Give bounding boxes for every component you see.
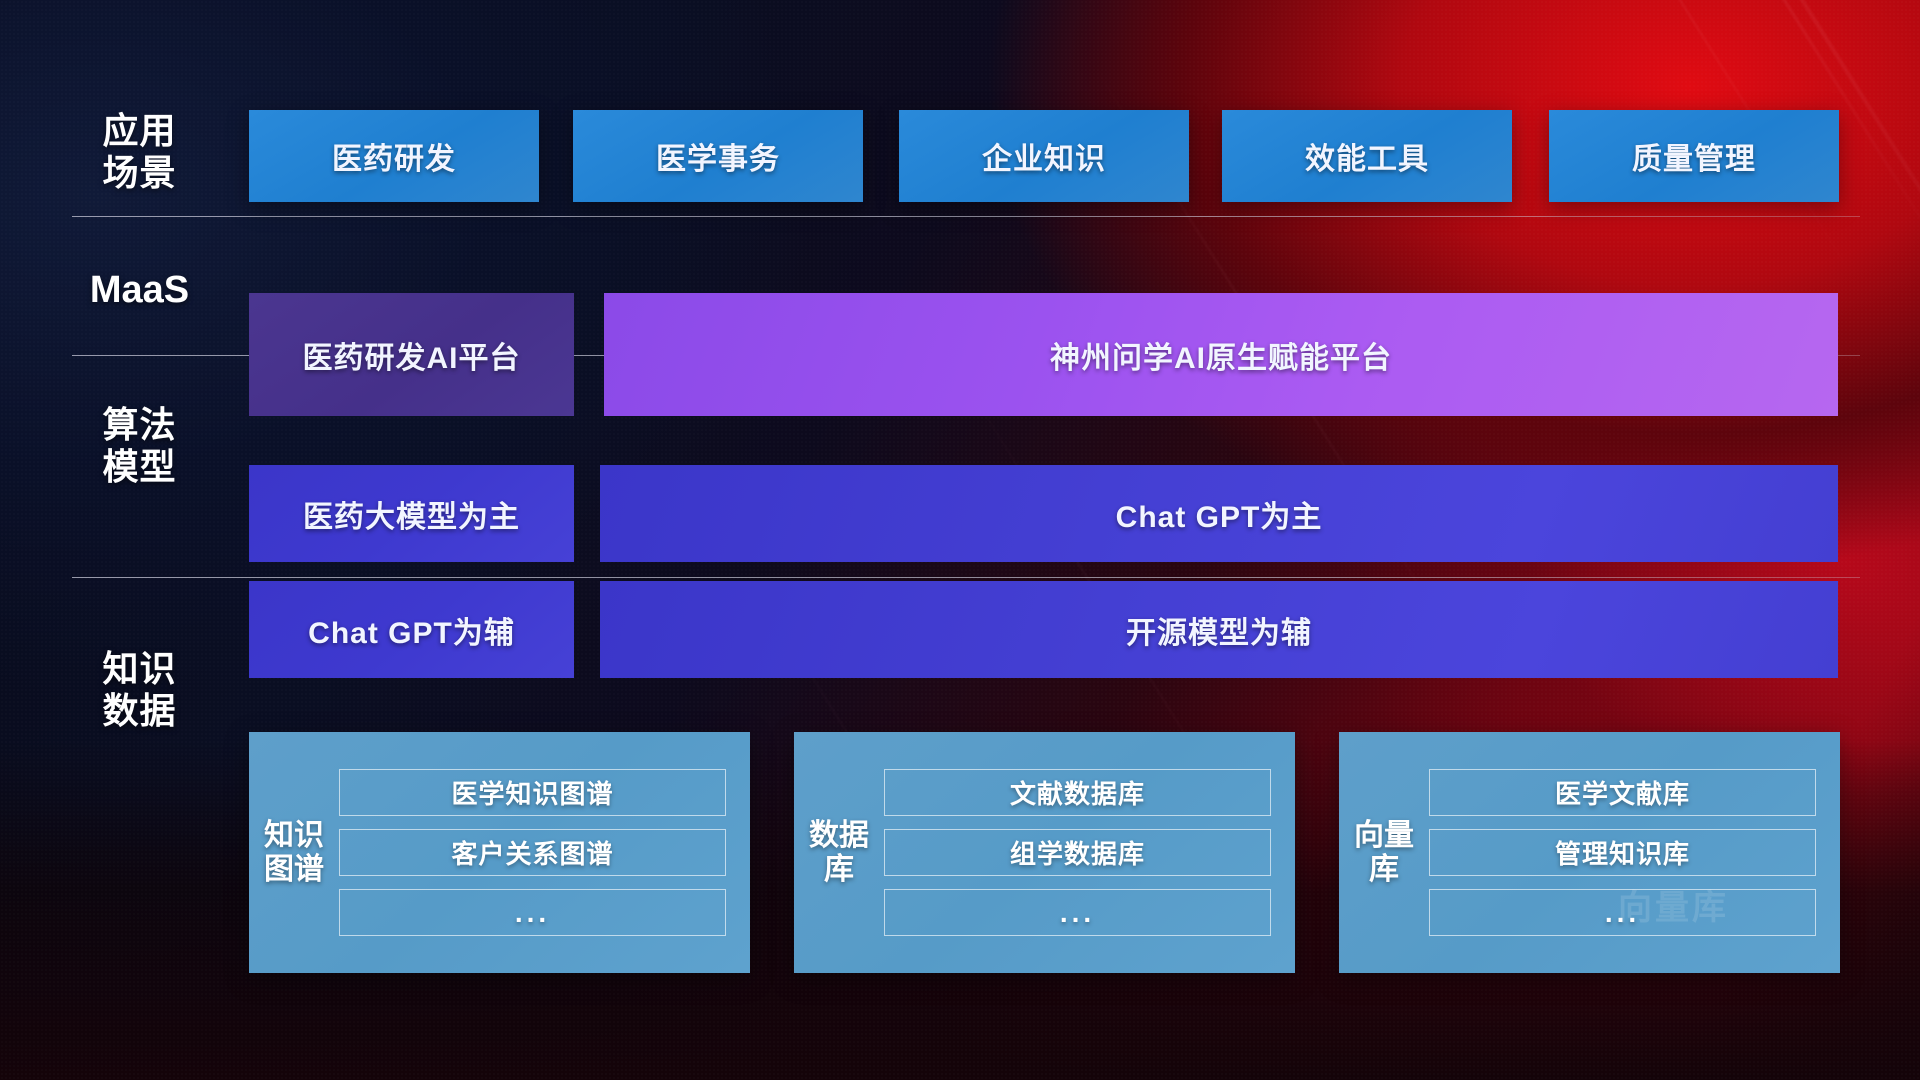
knowledge-group-title: 向量 库 <box>1339 819 1429 886</box>
knowledge-group-items: 医学文献库 管理知识库 ... <box>1429 769 1840 936</box>
divider-after-algorithm-models <box>72 577 1860 578</box>
knowledge-item[interactable]: 管理知识库 <box>1429 829 1816 876</box>
knowledge-group-vector-store[interactable]: 向量 库 医学文献库 管理知识库 ... <box>1339 732 1840 973</box>
knowledge-item[interactable]: 组学数据库 <box>884 829 1271 876</box>
row-label-application-scenarios: 应用 场景 <box>72 110 207 195</box>
maas-card-shenzhou-wenxue-platform[interactable]: 神州问学AI原生赋能平台 <box>604 293 1838 416</box>
maas-card-pharma-ai-platform[interactable]: 医药研发AI平台 <box>249 293 574 416</box>
knowledge-group-items: 文献数据库 组学数据库 ... <box>884 769 1295 936</box>
architecture-diagram: 应用 场景 MaaS 算法 模型 知识 数据 医药研发 医学事务 企业知识 效能… <box>0 0 1920 1080</box>
scenario-card-efficiency-tools[interactable]: 效能工具 <box>1222 110 1512 202</box>
knowledge-group-title: 知识 图谱 <box>249 819 339 886</box>
divider-after-application-scenarios <box>72 216 1860 217</box>
knowledge-group-title: 数据 库 <box>794 819 884 886</box>
scenario-card-medicine-rd[interactable]: 医药研发 <box>249 110 539 202</box>
knowledge-group-knowledge-graph[interactable]: 知识 图谱 医学知识图谱 客户关系图谱 ... <box>249 732 750 973</box>
algorithm-card-opensource-secondary[interactable]: 开源模型为辅 <box>600 581 1838 678</box>
knowledge-item-more[interactable]: ... <box>339 889 726 936</box>
knowledge-group-items: 医学知识图谱 客户关系图谱 ... <box>339 769 750 936</box>
algorithm-card-chatgpt-primary[interactable]: Chat GPT为主 <box>600 465 1838 562</box>
knowledge-item-more[interactable]: ... <box>884 889 1271 936</box>
knowledge-item[interactable]: 医学知识图谱 <box>339 769 726 816</box>
scenario-card-medical-affairs[interactable]: 医学事务 <box>573 110 863 202</box>
algorithm-card-chatgpt-secondary[interactable]: Chat GPT为辅 <box>249 581 574 678</box>
knowledge-item[interactable]: 文献数据库 <box>884 769 1271 816</box>
row-label-algorithm-models: 算法 模型 <box>72 404 207 489</box>
knowledge-item-more[interactable]: ... <box>1429 889 1816 936</box>
row-label-knowledge-data: 知识 数据 <box>72 648 207 733</box>
scenario-card-quality-management[interactable]: 质量管理 <box>1549 110 1839 202</box>
knowledge-group-database[interactable]: 数据 库 文献数据库 组学数据库 ... <box>794 732 1295 973</box>
row-label-maas: MaaS <box>72 268 207 313</box>
scenario-card-enterprise-knowledge[interactable]: 企业知识 <box>899 110 1189 202</box>
knowledge-item[interactable]: 客户关系图谱 <box>339 829 726 876</box>
algorithm-card-pharma-llm-primary[interactable]: 医药大模型为主 <box>249 465 574 562</box>
knowledge-item[interactable]: 医学文献库 <box>1429 769 1816 816</box>
